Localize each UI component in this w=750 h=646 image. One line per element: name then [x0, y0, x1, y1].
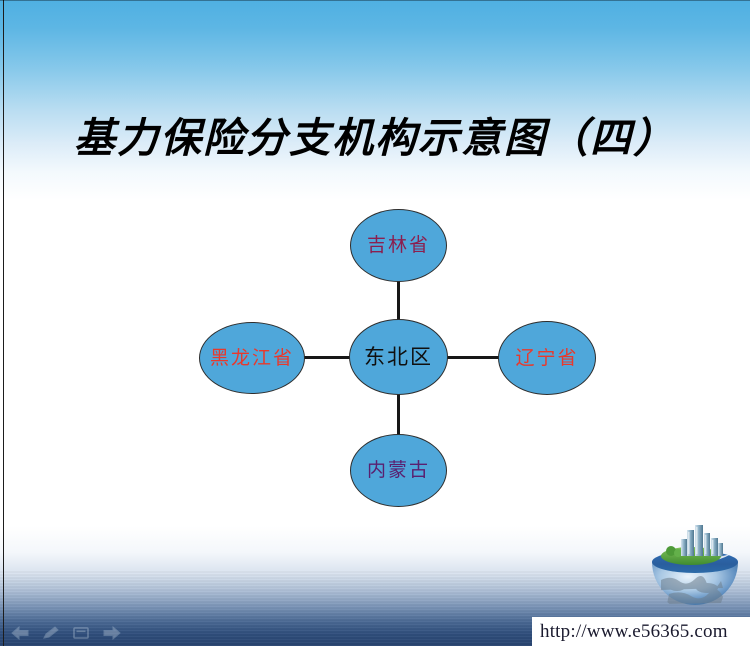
slide-title: 基力保险分支机构示意图（四）	[0, 104, 750, 164]
node-jilin-label: 吉林省	[367, 236, 430, 255]
node-jilin[interactable]: 吉林省	[350, 209, 447, 282]
back-arrow-icon[interactable]	[10, 626, 30, 640]
slideshow-nav-bar[interactable]	[10, 626, 122, 640]
node-heilongjiang[interactable]: 黑龙江省	[199, 322, 305, 394]
forward-arrow-icon[interactable]	[102, 626, 122, 640]
pen-icon[interactable]	[42, 626, 60, 640]
slide-top-border	[0, 0, 750, 1]
node-northeast-region[interactable]: 东北区	[349, 319, 448, 395]
node-inner-mongolia-label: 内蒙古	[367, 461, 430, 480]
eco-city-globe-icon	[647, 524, 743, 616]
node-northeast-region-label: 东北区	[364, 347, 433, 368]
node-inner-mongolia[interactable]: 内蒙古	[350, 434, 447, 507]
website-url: http://www.e56365.com	[540, 621, 728, 643]
url-watermark-plate: http://www.e56365.com	[532, 617, 750, 646]
presentation-slide: 基力保险分支机构示意图（四） 吉林省 黑龙江省 东北区 辽宁省 内蒙古	[0, 0, 750, 646]
node-liaoning[interactable]: 辽宁省	[498, 321, 596, 395]
menu-icon[interactable]	[72, 626, 90, 640]
node-liaoning-label: 辽宁省	[515, 349, 578, 368]
slide-left-border	[3, 0, 4, 646]
node-heilongjiang-label: 黑龙江省	[210, 349, 294, 368]
sky-gradient-background	[0, 0, 750, 200]
